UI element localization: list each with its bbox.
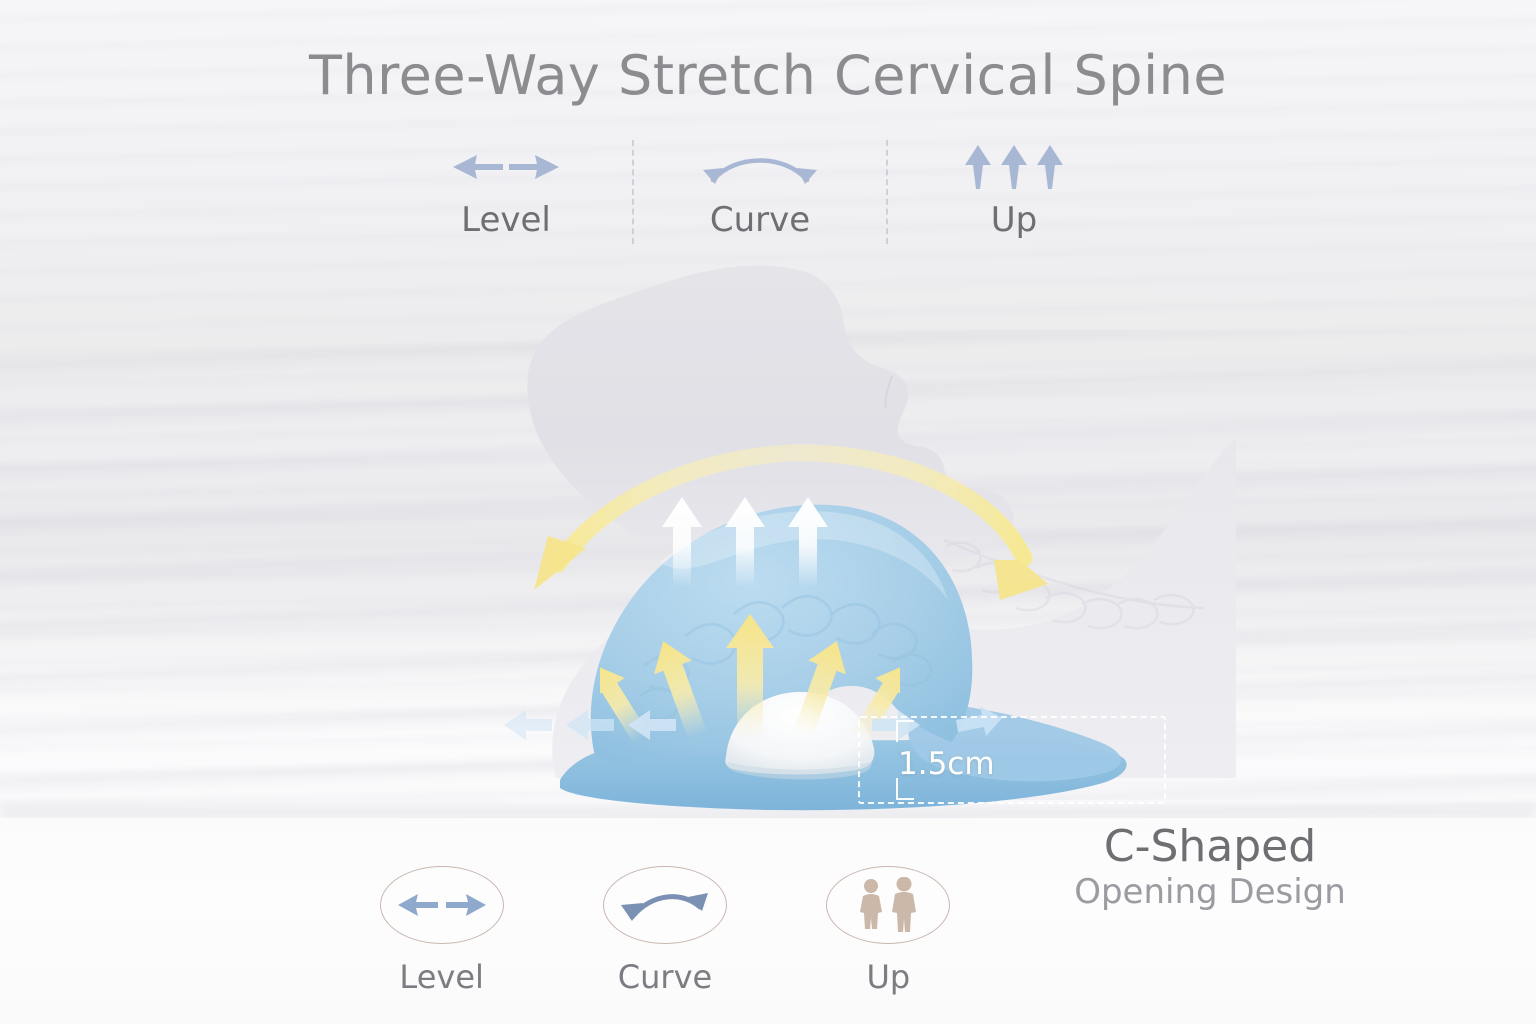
- top-feature-label: Level: [461, 200, 551, 240]
- bottom-badge-up[interactable]: Up: [777, 866, 1000, 1006]
- white-lift-arrows-icon: [660, 495, 830, 590]
- badge-label: Up: [866, 958, 910, 996]
- top-feature-level[interactable]: Level: [380, 138, 632, 240]
- triple-up-arrow-icon: [964, 138, 1064, 196]
- dimension-tick-top: [896, 720, 898, 742]
- top-feature-label: Up: [991, 200, 1037, 240]
- dimension-callout-icon: 1.5cm: [858, 716, 1166, 804]
- two-person-posture-icon: [852, 877, 924, 933]
- page-title: Three-Way Stretch Cervical Spine: [0, 44, 1536, 107]
- c-shaped-callout: C-Shaped Opening Design: [1000, 824, 1420, 913]
- badge-oval: [603, 866, 727, 944]
- arc-double-arrow-icon: [695, 138, 825, 196]
- bottom-badge-row: Level Curve: [330, 866, 1000, 1006]
- badge-label: Level: [399, 958, 483, 996]
- dimension-value: 1.5cm: [898, 746, 995, 782]
- bottom-badge-level[interactable]: Level: [330, 866, 553, 1006]
- double-horizontal-arrow-icon: [451, 138, 561, 196]
- callout-title: C-Shaped: [1000, 824, 1420, 870]
- badge-label: Curve: [618, 958, 712, 996]
- badge-oval: [380, 866, 504, 944]
- top-feature-row: Level Curve: [380, 138, 1140, 250]
- top-feature-label: Curve: [710, 200, 810, 240]
- top-feature-up[interactable]: Up: [888, 138, 1140, 240]
- arc-double-arrow-icon: [616, 883, 714, 927]
- top-feature-curve[interactable]: Curve: [634, 138, 886, 240]
- bottom-badge-curve[interactable]: Curve: [553, 866, 776, 1006]
- badge-oval: [826, 866, 950, 944]
- double-horizontal-arrow-icon: [396, 890, 488, 920]
- callout-subtitle: Opening Design: [1000, 872, 1420, 913]
- infographic-canvas: 1.5cm Three-Way Stretch Cervical Spine L…: [0, 0, 1536, 1024]
